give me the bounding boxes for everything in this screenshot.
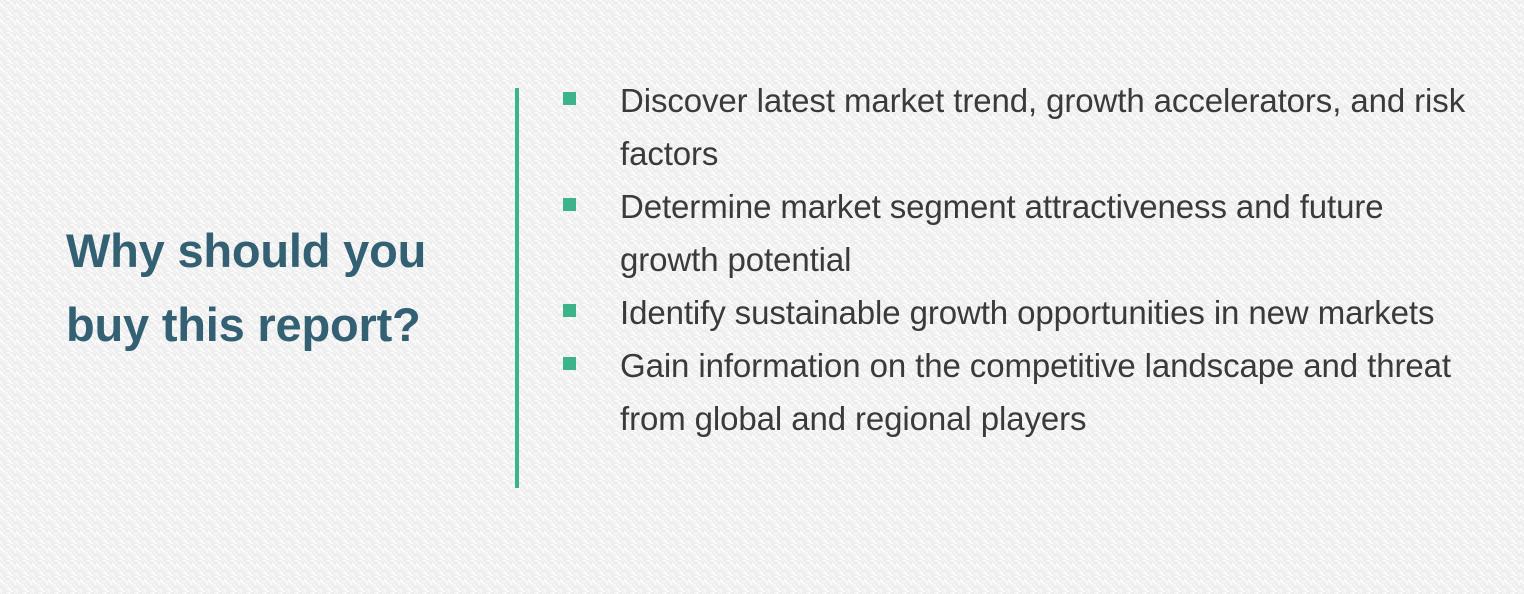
- list-item: Discover latest market trend, growth acc…: [556, 74, 1486, 180]
- page-title: Why should you buy this report?: [66, 214, 476, 363]
- square-bullet-icon: [563, 357, 576, 370]
- square-bullet-icon: [563, 304, 576, 317]
- heading-block: Why should you buy this report?: [66, 214, 476, 363]
- benefits-list: Discover latest market trend, growth acc…: [556, 74, 1486, 445]
- list-item-text: Gain information on the competitive land…: [620, 339, 1486, 445]
- list-item-text: Identify sustainable growth opportunitie…: [620, 286, 1486, 339]
- square-bullet-icon: [563, 198, 576, 211]
- square-bullet-icon: [563, 92, 576, 105]
- list-item-text: Determine market segment attractiveness …: [620, 180, 1486, 286]
- list-item-text: Discover latest market trend, growth acc…: [620, 74, 1486, 180]
- list-item: Determine market segment attractiveness …: [556, 180, 1486, 286]
- slide-canvas: Why should you buy this report? Discover…: [0, 0, 1524, 594]
- vertical-accent-rule: [515, 88, 519, 488]
- list-item: Identify sustainable growth opportunitie…: [556, 286, 1486, 339]
- list-item: Gain information on the competitive land…: [556, 339, 1486, 445]
